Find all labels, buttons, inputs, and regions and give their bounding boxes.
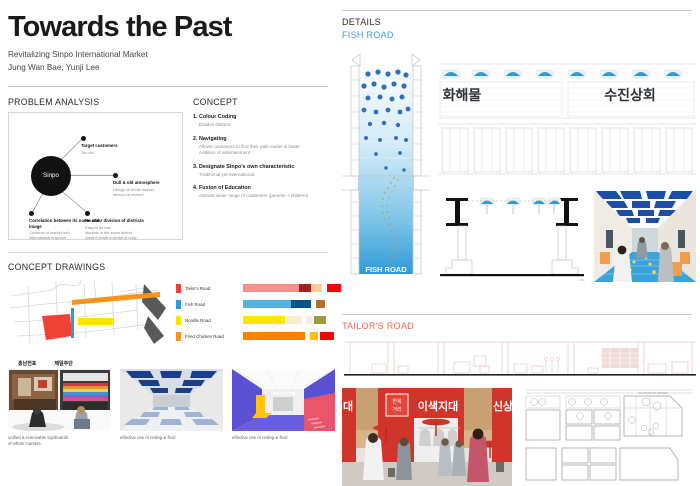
concept-item-3-label: Designate Sinpo's own characteristic bbox=[199, 164, 294, 170]
concept-item-2-number: 2. bbox=[193, 136, 198, 142]
ceiling-floor-render-1-svg bbox=[120, 369, 223, 431]
legend-swatch-fried-chicken-road bbox=[176, 332, 181, 341]
legend-bar bbox=[243, 332, 305, 340]
section-heading-details: DETAILS bbox=[342, 17, 692, 27]
tailors-road-bottom-row: 한복 거리 이색지대 신상대 대 bbox=[342, 388, 692, 486]
concept-item-3: 3. Designate Sinpo's own characteristic … bbox=[193, 164, 328, 179]
legend-bar bbox=[320, 332, 334, 340]
node-label-no-division: No clear division of districts bbox=[85, 218, 167, 224]
signboard-photo bbox=[8, 369, 111, 431]
legend-bar bbox=[299, 284, 311, 292]
tailors-road-floor-plan: INFORMATION CENTER bbox=[520, 388, 692, 486]
legend-bar bbox=[285, 316, 302, 324]
concept-item-4-number: 4. bbox=[193, 185, 198, 191]
fish-road-plan: FISH ROAD bbox=[342, 50, 430, 282]
node-dot-dull-atmosphere bbox=[113, 173, 118, 178]
legend-bar bbox=[310, 332, 318, 340]
concept-image-caption-3: effective use of ceiling & floor bbox=[232, 435, 335, 441]
section-heading-tailors-road: TAILOR'S ROAD bbox=[342, 321, 692, 331]
page-subtitle: Revitalizing Sinpo International Market … bbox=[8, 49, 328, 74]
signboard-photo-svg bbox=[8, 369, 111, 431]
legend-label-noodle-road: Noodle Road bbox=[185, 318, 243, 323]
concept-item-4-label: Fusion of Education bbox=[199, 185, 251, 191]
legend-bar bbox=[316, 300, 325, 308]
fish-road-elevation-svg: 화해물 수진상회 bbox=[438, 62, 696, 182]
fish-road-detail-grid: FISH ROAD bbox=[342, 40, 692, 308]
floor-plan-note: INFORMATION CENTER bbox=[638, 391, 667, 395]
section-heading-fish-road: FISH ROAD bbox=[342, 30, 692, 40]
legend-bar bbox=[243, 316, 285, 324]
ceiling-floor-render-2: FISH ROAD bbox=[232, 369, 335, 431]
problem-analysis-diagram: Sinpo Target customers Too old Dull & ol… bbox=[8, 112, 183, 240]
concept-item-1-label: Colour Coding bbox=[199, 114, 236, 120]
legend-label-tailors-road: Tailor's Road bbox=[185, 286, 243, 291]
render-sign-partial: 대 bbox=[343, 399, 353, 413]
legend-row-fish-road: Fish Road bbox=[176, 298, 341, 311]
concept-drawings-divider bbox=[8, 252, 328, 253]
signboard-korean-labels: 홍남전포 제일주단 bbox=[8, 360, 111, 367]
concept-item-1-desc: Divides districts bbox=[193, 122, 328, 129]
tailors-road-floor-plan-svg: INFORMATION CENTER bbox=[520, 388, 692, 486]
elevation-sign-2: 수진상회 bbox=[604, 87, 656, 104]
corridor-render-svg bbox=[594, 190, 696, 282]
concept-item-2-desc: Allows customers to find their path easi… bbox=[193, 144, 328, 157]
elevation-sign-1: 화해물 bbox=[443, 88, 482, 104]
concept-image-row: 홍남전포 제일주단 bbox=[8, 360, 328, 447]
concept-item-2-label: Navigating bbox=[199, 136, 227, 142]
fish-road-plan-banner: FISH ROAD bbox=[365, 265, 407, 274]
legend-label-fried-chicken-road: Fried Chicken Road bbox=[185, 334, 243, 339]
fish-road-plan-svg: FISH ROAD bbox=[342, 50, 430, 282]
concept-item-2-title: 2. Navigating bbox=[193, 136, 328, 142]
legend-row-noodle-road: Noodle Road bbox=[176, 314, 341, 327]
legend-bars-noodle-road bbox=[243, 316, 326, 324]
signboard-label-2: 제일주단 bbox=[54, 360, 72, 367]
render-sign-isaekjidae: 이색지대 bbox=[418, 399, 458, 413]
concept-image-cell-1: 홍남전포 제일주단 bbox=[8, 360, 111, 447]
tailors-road-render: 한복 거리 이색지대 신상대 대 bbox=[342, 388, 512, 486]
legend-bar bbox=[306, 316, 312, 324]
render-sign-hanbok-2: 거리 bbox=[392, 406, 401, 413]
legend-bars-fish-road bbox=[243, 300, 325, 308]
concept-image-caption-1: unified & removable signboards of whole … bbox=[8, 435, 111, 447]
concept-item-4-desc: Attracts wider range of customers (paren… bbox=[193, 193, 328, 200]
section-heading-concept-drawings: CONCEPT DRAWINGS bbox=[8, 262, 328, 272]
fish-road-elevation: 화해물 수진상회 bbox=[438, 62, 696, 182]
concept-item-1: 1. Colour Coding Divides districts bbox=[193, 114, 328, 129]
concept-item-2: 2. Navigating Allows customers to find t… bbox=[193, 136, 328, 157]
subtitle-line-2: Jung Wan Bae, Yunji Lee bbox=[8, 62, 328, 75]
concept-item-1-number: 1. bbox=[193, 114, 198, 120]
concept-item-3-title: 3. Designate Sinpo's own characteristic bbox=[193, 164, 328, 170]
problem-analysis-block: PROBLEM ANALYSIS Sinpo Target customers … bbox=[8, 91, 183, 240]
concept-item-4: 4. Fusion of Education Attracts wider ra… bbox=[193, 185, 328, 200]
right-column: DETAILS FISH ROAD bbox=[336, 0, 700, 480]
concept-item-3-desc: Traditional yet international bbox=[193, 172, 328, 179]
fish-road-corridor-render bbox=[594, 190, 696, 282]
section-scale-note: 1/50 bbox=[579, 278, 585, 282]
section-heading-problem-analysis: PROBLEM ANALYSIS bbox=[8, 97, 183, 107]
concept-item-4-title: 4. Fusion of Education bbox=[193, 185, 328, 191]
page-title: Towards the Past bbox=[8, 12, 328, 42]
subtitle-line-1: Revitalizing Sinpo International Market bbox=[8, 49, 328, 62]
legend-row-tailors-road: Tailor's Road bbox=[176, 282, 341, 295]
tailors-road-divider bbox=[342, 314, 692, 315]
node-sub-dull-atmosphere: Design of whole market should be revised bbox=[113, 187, 183, 198]
node-label-dull-atmosphere: Dull & old atmosphere bbox=[113, 180, 185, 186]
left-column: Towards the Past Revitalizing Sinpo Inte… bbox=[0, 0, 336, 480]
tailors-road-block: TAILOR'S ROAD bbox=[342, 314, 692, 486]
concept-item-3-number: 3. bbox=[193, 164, 198, 170]
road-colour-legend: Tailor's Road Fish Road bbox=[176, 278, 341, 350]
legend-swatch-fish-road bbox=[176, 300, 181, 309]
node-sub-no-division: Easy to be lost. Markets in the same dis… bbox=[85, 225, 167, 241]
legend-bar bbox=[311, 284, 322, 292]
concept-block: CONCEPT 1. Colour Coding Divides distric… bbox=[193, 91, 328, 240]
legend-label-fish-road: Fish Road bbox=[185, 302, 243, 307]
diagram-center-node: Sinpo bbox=[31, 156, 71, 196]
diagram-center-label: Sinpo bbox=[43, 172, 59, 179]
tailors-road-elevation bbox=[342, 338, 698, 380]
concept-drawings-row: Tailor's Road Fish Road bbox=[8, 278, 328, 350]
legend-bars-fried-chicken-road bbox=[243, 332, 334, 340]
tailors-road-elevation-svg bbox=[342, 338, 698, 380]
node-dot-no-division bbox=[85, 211, 90, 216]
fish-road-render-sign: FISH ROAD bbox=[271, 391, 295, 396]
ceiling-floor-render-1 bbox=[120, 369, 223, 431]
fish-road-section: 1/50 bbox=[438, 190, 586, 282]
section-heading-concept: CONCEPT bbox=[193, 97, 328, 107]
render-sign-hanbok-1: 한복 bbox=[392, 399, 402, 405]
node-sub-target-customers: Too old bbox=[81, 150, 161, 155]
legend-bar bbox=[243, 300, 291, 308]
fish-road-section-svg: 1/50 bbox=[438, 190, 586, 282]
node-dot-target-customers bbox=[81, 136, 86, 141]
site-map-diagram bbox=[8, 278, 168, 350]
legend-swatch-tailors-road bbox=[176, 284, 181, 293]
concept-image-caption-2: effective use of ceiling & floor bbox=[120, 435, 223, 441]
legend-row-fried-chicken-road: Fried Chicken Road bbox=[176, 330, 341, 343]
node-label-target-customers: Target customers bbox=[81, 143, 161, 149]
legend-swatch-noodle-road bbox=[176, 316, 181, 325]
concept-item-1-title: 1. Colour Coding bbox=[193, 114, 328, 120]
ceiling-floor-render-2-svg: FISH ROAD bbox=[232, 369, 335, 431]
site-map-svg bbox=[8, 278, 168, 350]
title-divider bbox=[8, 86, 328, 87]
render-sign-sinsangdae: 신상대 bbox=[493, 399, 512, 413]
analysis-concept-row: PROBLEM ANALYSIS Sinpo Target customers … bbox=[8, 91, 328, 240]
details-top-divider bbox=[342, 10, 692, 11]
legend-bars-tailors-road bbox=[243, 284, 341, 292]
node-dot-correlation bbox=[29, 211, 34, 216]
poster-root: Towards the Past Revitalizing Sinpo Inte… bbox=[0, 0, 700, 480]
tailors-road-render-svg: 한복 거리 이색지대 신상대 대 bbox=[342, 388, 512, 486]
concept-image-cell-2: effective use of ceiling & floor bbox=[120, 360, 223, 447]
signboard-label-1: 홍남전포 bbox=[18, 360, 36, 367]
concept-image-cell-3: FISH ROAD effec bbox=[232, 360, 335, 447]
legend-bar bbox=[243, 284, 299, 292]
legend-bar bbox=[291, 300, 311, 308]
legend-bar bbox=[314, 316, 326, 324]
